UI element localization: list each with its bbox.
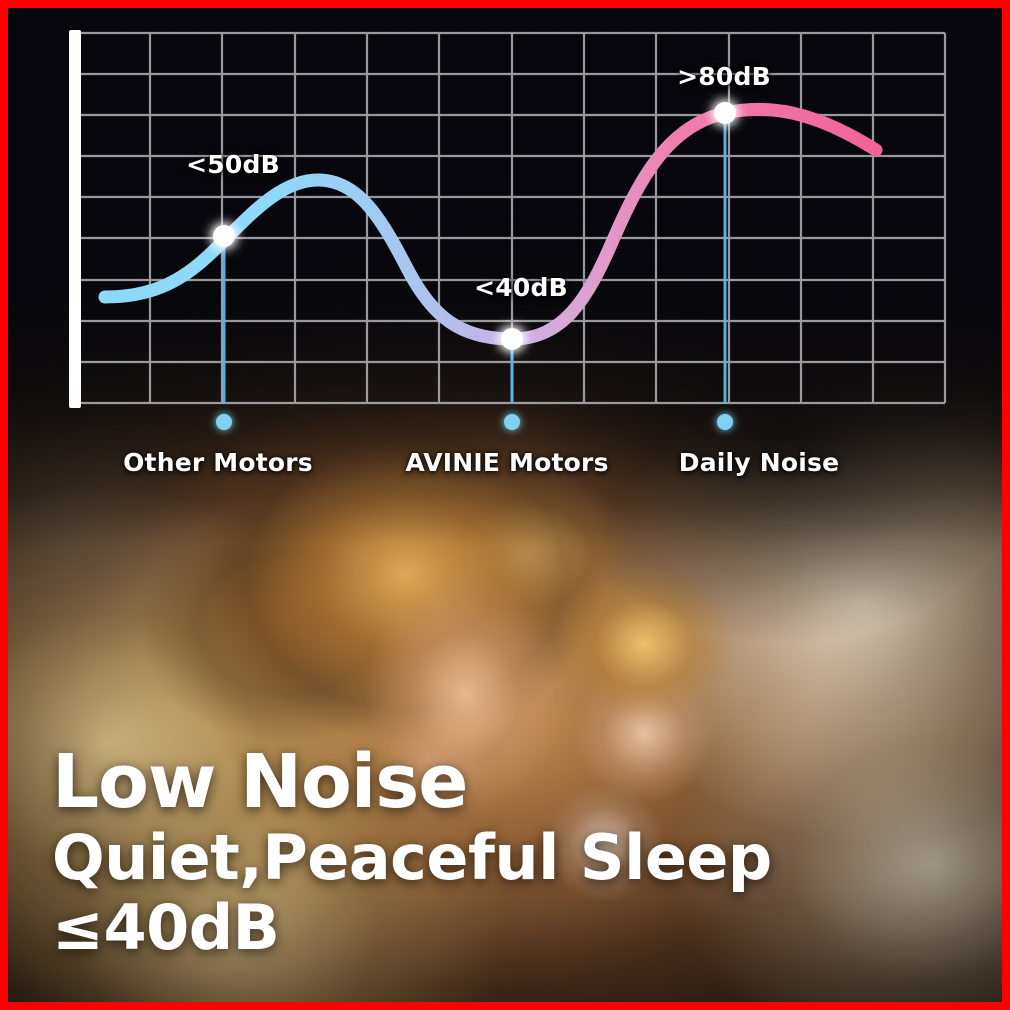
headline-primary: Low Noise [52, 745, 972, 819]
poster-stage: <50dB <40dB >80dB Other Motors AVINIE Mo… [8, 8, 1002, 1002]
headline-block: Low Noise Quiet,Peaceful Sleep ≤40dB [52, 745, 972, 962]
axis-dot-daily-noise [717, 414, 733, 430]
data-point-markers[interactable] [213, 102, 736, 350]
marker-other-motors[interactable] [213, 225, 235, 247]
y-axis-bar [69, 30, 81, 408]
marker-daily-noise[interactable] [714, 102, 736, 124]
headline-secondary: Quiet,Peaceful Sleep ≤40dB [52, 823, 972, 962]
axis-category-dots [216, 414, 733, 430]
marker-avinie-motors[interactable] [501, 328, 523, 350]
axis-dot-avinie-motors [504, 414, 520, 430]
noise-curve [105, 109, 876, 339]
axis-dot-other-motors [216, 414, 232, 430]
noise-comparison-chart: <50dB <40dB >80dB Other Motors AVINIE Mo… [8, 8, 1002, 508]
poster-frame: <50dB <40dB >80dB Other Motors AVINIE Mo… [0, 0, 1010, 1010]
